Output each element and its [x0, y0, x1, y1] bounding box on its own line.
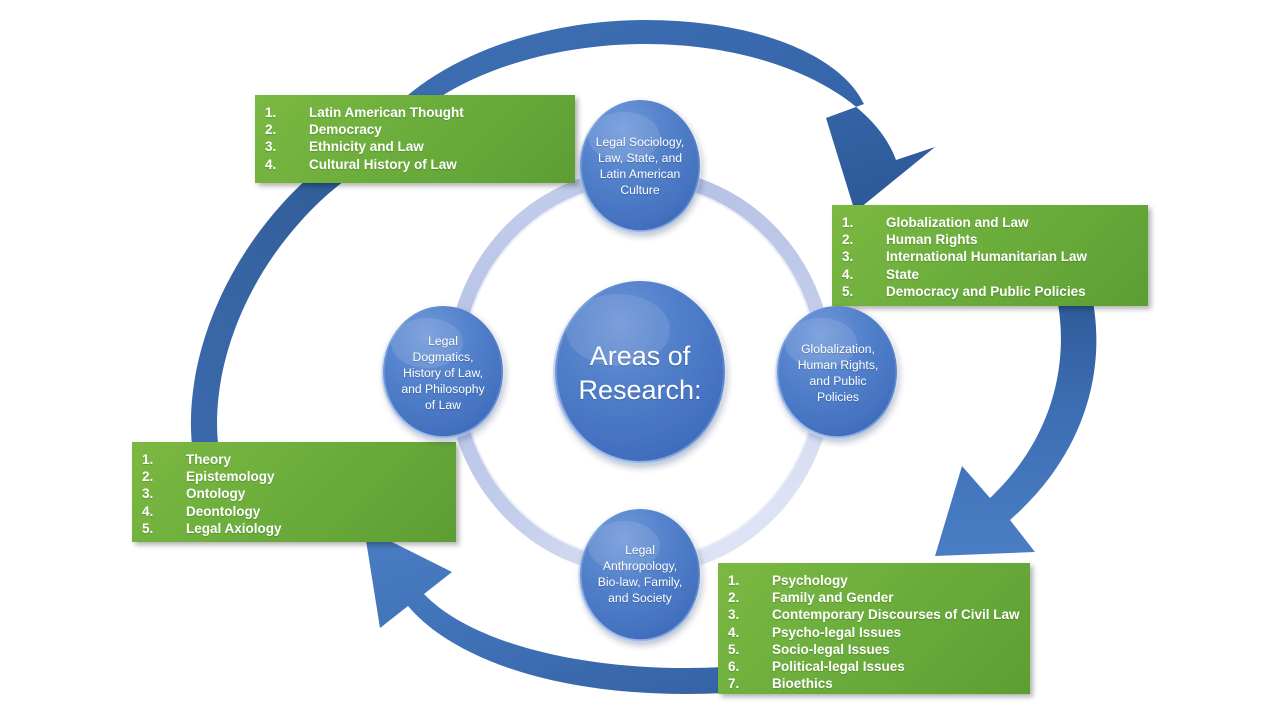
circle-top[interactable]	[580, 100, 700, 232]
circle-center[interactable]	[555, 281, 725, 463]
circle-group	[0, 0, 1280, 720]
circle-bottom[interactable]	[580, 509, 700, 641]
circle-left[interactable]	[383, 306, 503, 438]
diagram-canvas: Areas of Research: Legal Sociology, Law,…	[0, 0, 1280, 720]
circle-right[interactable]	[777, 306, 897, 438]
